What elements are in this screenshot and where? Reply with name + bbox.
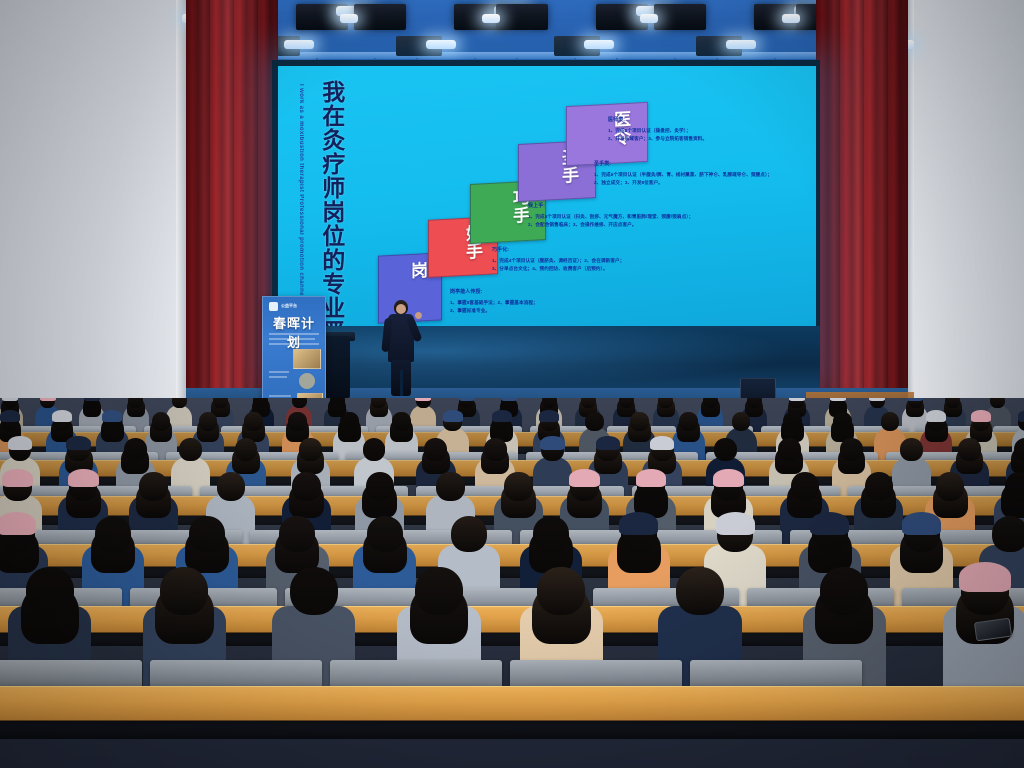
lecture-desk bbox=[0, 544, 1024, 567]
stage-light-glow bbox=[584, 40, 614, 49]
audience-person-head bbox=[299, 438, 322, 461]
audience-person-head bbox=[703, 398, 718, 408]
audience-person-cap bbox=[789, 398, 805, 401]
audience-person-head bbox=[199, 412, 218, 431]
audience-person-cap bbox=[0, 512, 36, 534]
audience-person-cap bbox=[902, 512, 941, 534]
audience-person-cap bbox=[619, 512, 658, 534]
audience-person-cap bbox=[501, 398, 517, 401]
banner-graphic-blob bbox=[299, 373, 315, 389]
audience-person-cap bbox=[1018, 410, 1024, 422]
audience-person-head bbox=[840, 438, 863, 461]
audience-person-head bbox=[791, 472, 820, 501]
audience-person-head bbox=[585, 412, 604, 431]
audience-person-cap bbox=[539, 410, 559, 422]
audience-person-head bbox=[288, 412, 307, 431]
audience-person-cap bbox=[2, 469, 33, 487]
stage-light-glow bbox=[782, 14, 800, 23]
stage-light-glow bbox=[426, 40, 456, 49]
slide-note-block: 医师类:1、完成8个项目认证（操盘控、灸学）； 2、开发私域客户；3、参与立院拓… bbox=[608, 108, 808, 144]
stage-light bbox=[654, 4, 706, 30]
audience-person-cap bbox=[84, 398, 100, 401]
banner-text-line bbox=[269, 343, 319, 345]
stage-light-glow bbox=[340, 14, 358, 23]
audience-person-head bbox=[152, 412, 171, 431]
audience-person-cap bbox=[8, 436, 33, 450]
stage-curtain-right bbox=[816, 0, 908, 442]
audience-person-cap bbox=[959, 562, 1011, 592]
banner-logo-icon bbox=[269, 302, 278, 311]
audience-person-head bbox=[747, 398, 762, 408]
audience-person-cap bbox=[636, 469, 667, 487]
audience-person-cap bbox=[540, 436, 565, 450]
audience-person-cap bbox=[40, 398, 56, 401]
audience-person-head bbox=[778, 438, 801, 461]
audience-person-head bbox=[139, 472, 168, 501]
audience-seating-area bbox=[0, 398, 1024, 768]
slide-note-heading: 我上手: bbox=[528, 202, 804, 211]
lecture-hall-photo: I work as a moxibustion therapist Profes… bbox=[0, 0, 1024, 768]
slide-note-heading: 岗亭能人传授: bbox=[450, 288, 700, 297]
audience-person-cap bbox=[830, 398, 846, 401]
audience-person-cap bbox=[459, 398, 475, 401]
projection-screen: I work as a moxibustion therapist Profes… bbox=[278, 66, 816, 326]
audience-person-head bbox=[820, 567, 868, 615]
audience-person-head bbox=[424, 438, 447, 461]
audience-person-head bbox=[676, 567, 724, 615]
audience-person-cap bbox=[415, 398, 431, 401]
audience-person-head bbox=[542, 398, 557, 408]
presenter-leg-gap bbox=[400, 370, 403, 396]
audience-person-head bbox=[1005, 472, 1024, 501]
lecture-desk-front bbox=[0, 566, 1024, 578]
audience-person-cap bbox=[596, 436, 621, 450]
audience-person-head bbox=[581, 398, 596, 408]
audience-person-cap bbox=[907, 398, 923, 401]
audience-person-head bbox=[990, 398, 1005, 408]
audience-person-cap bbox=[926, 410, 946, 422]
audience-person-cap bbox=[66, 436, 91, 450]
audience-person-head bbox=[833, 412, 852, 431]
audience-person-cap bbox=[443, 410, 463, 422]
audience-person-head bbox=[630, 412, 649, 431]
banner-text-line bbox=[269, 376, 287, 378]
audience-person-head bbox=[330, 398, 345, 408]
banner-title: 春晖计划 bbox=[267, 313, 321, 351]
audience-person-head bbox=[179, 438, 202, 461]
audience-person-head bbox=[172, 398, 187, 408]
presenter bbox=[383, 300, 419, 396]
banner-text-line bbox=[269, 338, 315, 340]
audience-person-head bbox=[160, 567, 208, 615]
audience-person-head bbox=[732, 412, 751, 431]
slide-title: 我在灸疗师岗位的专业晋升通道 bbox=[318, 80, 344, 326]
audience-person-head bbox=[436, 472, 465, 501]
banner-photo bbox=[293, 349, 321, 369]
audience-person-head bbox=[783, 412, 802, 431]
slide-note-block: 圣手类:1、完成6个项目认证（半腹灸/脾、胃、线材熏蒸、脐下神仑、乳腺疏导仑、颈… bbox=[594, 152, 808, 188]
audience-person-head bbox=[235, 438, 258, 461]
audience-person-head bbox=[95, 516, 131, 552]
audience-person-head bbox=[189, 516, 225, 552]
banner-text-line bbox=[269, 371, 289, 373]
audience-person-head bbox=[290, 567, 338, 615]
audience-person-head bbox=[292, 398, 307, 408]
banner-logo-text: 公益平台 bbox=[281, 303, 297, 309]
audience-person-cap bbox=[492, 410, 512, 422]
audience-person-head bbox=[504, 472, 533, 501]
audience-person-head bbox=[292, 472, 321, 501]
audience-person-cap bbox=[971, 410, 991, 422]
audience-person-head bbox=[392, 412, 411, 431]
audience-person-head bbox=[279, 516, 315, 552]
lectern bbox=[322, 336, 350, 398]
audience-person-head bbox=[484, 438, 507, 461]
slide-note-block: 我上手:1、完成5个项目认证（扫灸、刮痧、元气魔方、和胃脏肺/理堂、颈腰/颈肩点… bbox=[528, 194, 804, 230]
banner-text-line bbox=[269, 333, 319, 335]
audience-person-head bbox=[1014, 438, 1024, 461]
audience-person-head bbox=[451, 516, 487, 552]
audience-person-cap bbox=[869, 398, 885, 401]
audience-person-cap bbox=[0, 410, 20, 422]
slide-subtitle-english: I work as a moxibustion therapist Profes… bbox=[296, 84, 305, 298]
lecture-desk bbox=[0, 686, 1024, 721]
audience-person-head bbox=[124, 438, 147, 461]
audience-person-head bbox=[213, 398, 228, 408]
audience-person-cap bbox=[2, 398, 18, 401]
audience-person-head bbox=[537, 567, 585, 615]
audience-person-head bbox=[619, 398, 634, 408]
audience-person-head bbox=[217, 472, 246, 501]
audience-person-head bbox=[340, 412, 359, 431]
audience-person-head bbox=[865, 472, 894, 501]
ladder-step-label: 岗 bbox=[405, 261, 430, 280]
audience-person-head bbox=[936, 472, 965, 501]
stage-light bbox=[496, 4, 548, 30]
audience-person-head bbox=[363, 438, 386, 461]
audience-person-head bbox=[958, 438, 981, 461]
audience-person-head bbox=[26, 567, 74, 615]
audience-person-head bbox=[900, 438, 923, 461]
presenter-hand bbox=[415, 312, 422, 319]
audience-person-cap bbox=[102, 410, 122, 422]
audience-person-head bbox=[992, 516, 1024, 552]
stage-light-glow bbox=[640, 14, 658, 23]
stage-light-glow bbox=[284, 40, 314, 49]
banner-text-line bbox=[269, 395, 291, 397]
audience-person-cap bbox=[68, 469, 99, 487]
slide-note-block: 岗亭能人传授:1、掌握8套基础手法；2、掌握基本流程； 3、掌握标准专业。 bbox=[450, 280, 700, 316]
presenter-face bbox=[396, 304, 406, 314]
audience-person-head bbox=[533, 516, 569, 552]
stage-light-glow bbox=[482, 14, 500, 23]
wall-left bbox=[0, 0, 186, 452]
audience-person-head bbox=[679, 412, 698, 431]
audience-person-cap bbox=[716, 512, 755, 534]
audience-person-cap bbox=[52, 410, 72, 422]
stage-light-glow bbox=[726, 40, 756, 49]
audience-person-cap bbox=[650, 436, 675, 450]
audience-person-cap bbox=[713, 469, 744, 487]
slide-note-block: 巧手化:1、完成4个项目认证（腹脐灸、调经百证）；2、会在调新客户； 3、分单点… bbox=[492, 238, 804, 274]
stage-light bbox=[354, 4, 406, 30]
audience-person-head bbox=[366, 472, 395, 501]
audience-person-cap bbox=[810, 512, 849, 534]
wall-edge-left bbox=[176, 0, 186, 452]
audience-person-head bbox=[415, 567, 463, 615]
audience-person-head bbox=[881, 412, 900, 431]
audience-person-head bbox=[714, 438, 737, 461]
slide-note-heading: 巧手化: bbox=[492, 246, 804, 255]
lecture-desk-front bbox=[0, 720, 1024, 739]
slide-note-heading: 圣手类: bbox=[594, 160, 808, 169]
slide-note-heading: 医师类: bbox=[608, 116, 808, 125]
audience-person-head bbox=[367, 516, 403, 552]
audience-person-head bbox=[244, 412, 263, 431]
audience-person-cap bbox=[569, 469, 600, 487]
